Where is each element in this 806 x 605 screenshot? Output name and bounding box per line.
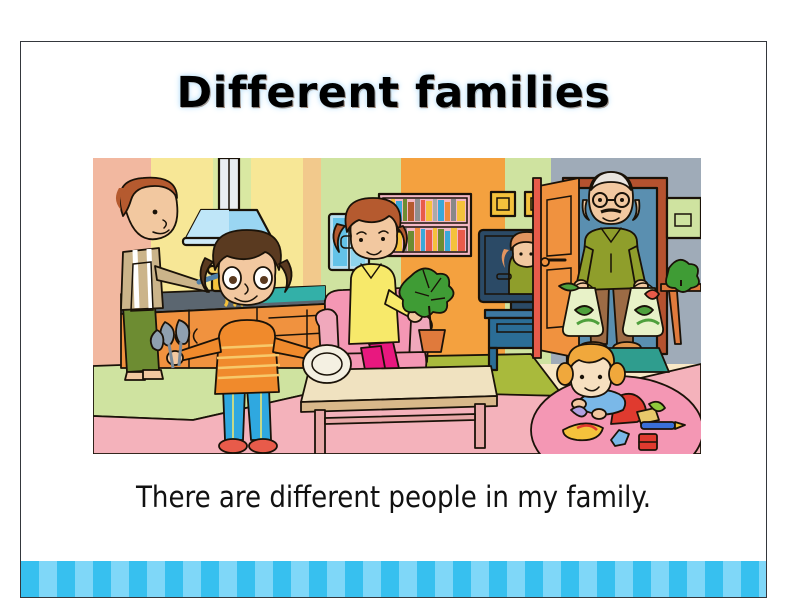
illustration-frame: .ol{stroke:#1a1208;stroke-width:2.2;stro…: [93, 158, 701, 454]
decorative-stripe-border: [21, 561, 766, 597]
family-home-illustration: .ol{stroke:#1a1208;stroke-width:2.2;stro…: [93, 158, 701, 454]
slide-caption: There are different people in my family.: [21, 480, 766, 514]
slide-canvas: Different families .ol{stroke:#1a1208;st…: [0, 0, 806, 605]
page-title: Different families: [21, 68, 766, 118]
presentation-slide: Different families .ol{stroke:#1a1208;st…: [20, 41, 767, 598]
